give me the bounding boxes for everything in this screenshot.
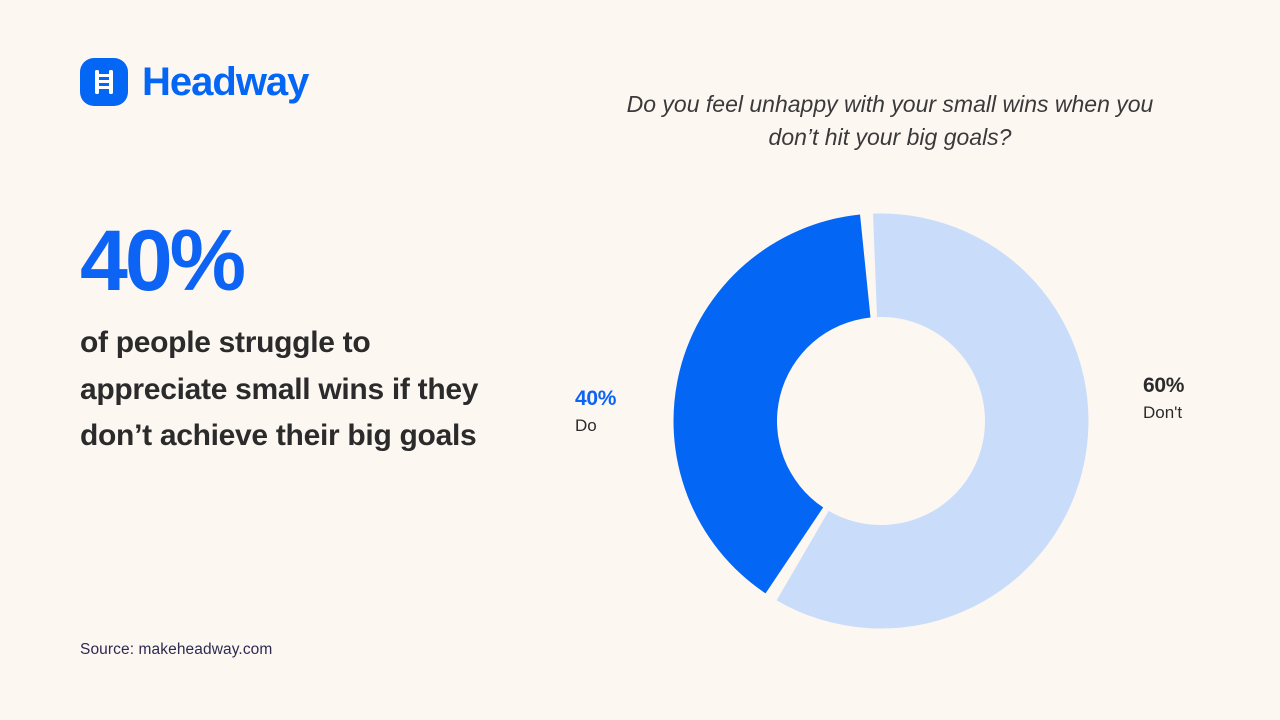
ladder-icon [80,58,128,106]
headline-description: of people struggle to appreciate small w… [80,320,510,460]
donut-label-dont-percent: 60% [1143,372,1184,399]
headline-statistic: 40% [80,218,243,304]
brand-logo: Headway [80,58,308,106]
donut-label-dont-name: Don't [1143,402,1184,424]
donut-label-dont: 60% Don't [1143,372,1184,424]
donut-label-do-percent: 40% [575,385,616,412]
source-credit: Source: makeheadway.com [80,641,272,659]
donut-chart: 40% Do 60% Don't [555,190,1265,650]
donut-chart-svg [672,212,1090,630]
chart-title: Do you feel unhappy with your small wins… [620,88,1160,153]
brand-name: Headway [142,62,308,102]
donut-label-do-name: Do [575,415,616,437]
donut-label-do: 40% Do [575,385,616,437]
